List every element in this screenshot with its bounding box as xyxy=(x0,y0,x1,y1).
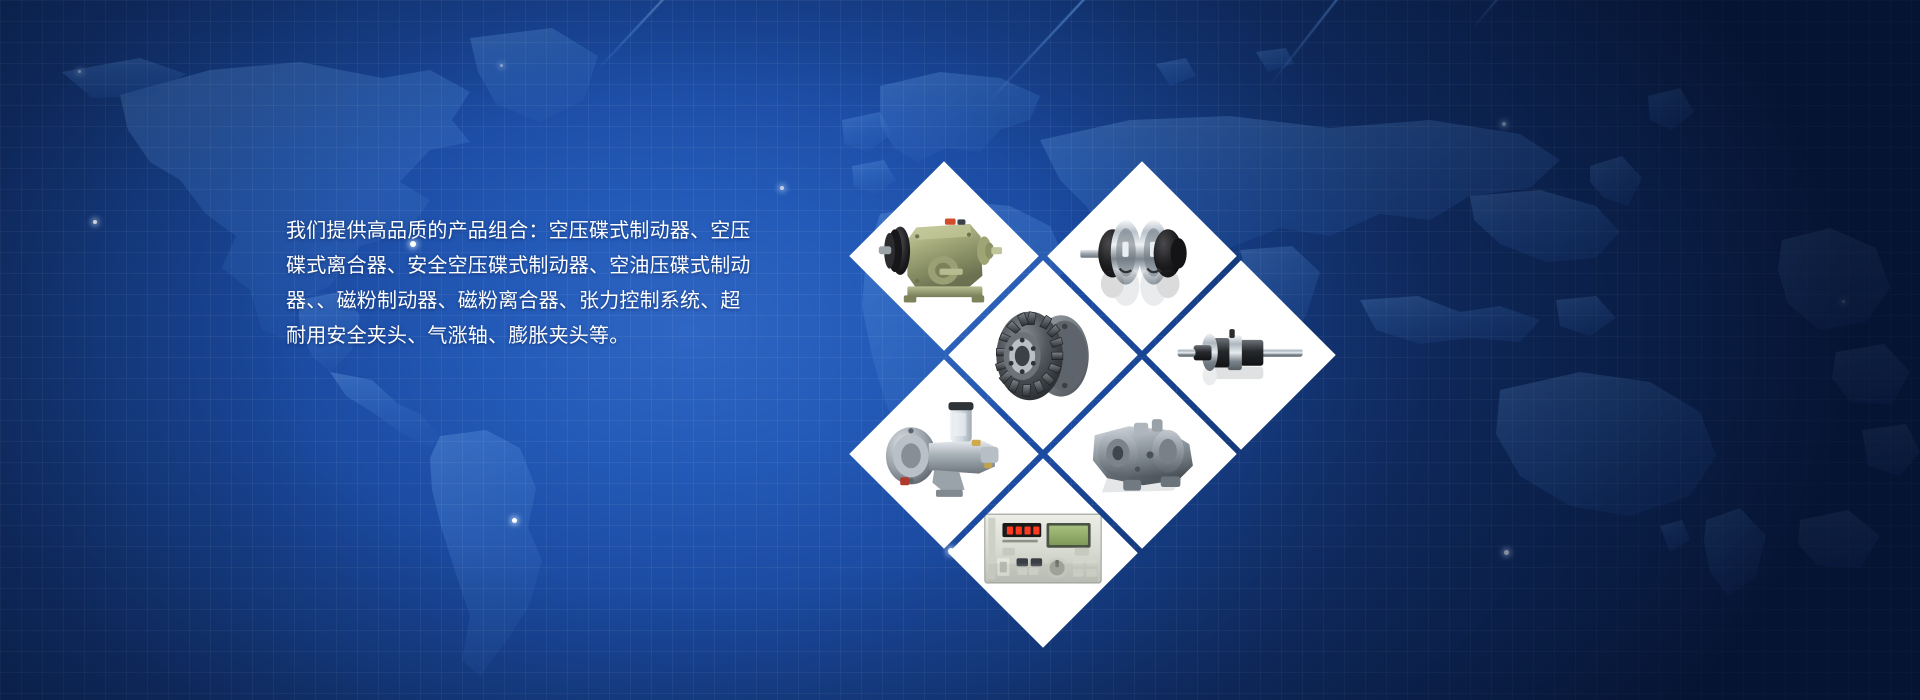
hydraulic-caliper-icon xyxy=(1075,399,1209,509)
brake-booster-icon xyxy=(877,394,1011,514)
sparkle-icon xyxy=(78,70,81,73)
hero-banner: 我们提供高品质的产品组合：空压碟式制动器、空压 碟式离合器、安全空压碟式制动器、… xyxy=(0,0,1920,700)
disc-brake-pair-icon xyxy=(1075,196,1209,316)
sparkle-icon xyxy=(1504,550,1509,555)
sparkle-icon xyxy=(780,186,784,190)
light-streak-icon xyxy=(1470,0,1517,31)
light-streak-icon xyxy=(1268,0,1423,87)
sparkle-icon xyxy=(1842,300,1845,303)
gear-reducer-icon xyxy=(877,194,1011,319)
hero-description-line-3: 器、、磁粉制动器、磁粉离合器、张力控制系统、超 xyxy=(286,284,758,319)
sparkle-icon xyxy=(93,220,97,224)
air-shaft-icon xyxy=(1174,300,1308,410)
light-streak-icon xyxy=(594,0,670,73)
hero-description-line-2: 碟式离合器、安全空压碟式制动器、空油压碟式制动 xyxy=(286,249,758,284)
finned-rotor-icon xyxy=(976,290,1110,420)
tension-controller-icon xyxy=(976,497,1110,609)
hero-description: 我们提供高品质的产品组合：空压碟式制动器、空压 碟式离合器、安全空压碟式制动器、… xyxy=(286,214,758,354)
sparkle-icon xyxy=(1502,122,1506,126)
sparkle-icon xyxy=(512,518,517,523)
sparkle-icon xyxy=(500,64,503,67)
hero-description-line-4: 耐用安全夹头、气涨轴、膨胀夹头等。 xyxy=(286,319,758,354)
hero-description-line-1: 我们提供高品质的产品组合：空压碟式制动器、空压 xyxy=(286,214,758,249)
light-streak-icon xyxy=(986,0,1172,104)
product-diamond-collage xyxy=(750,62,1335,647)
